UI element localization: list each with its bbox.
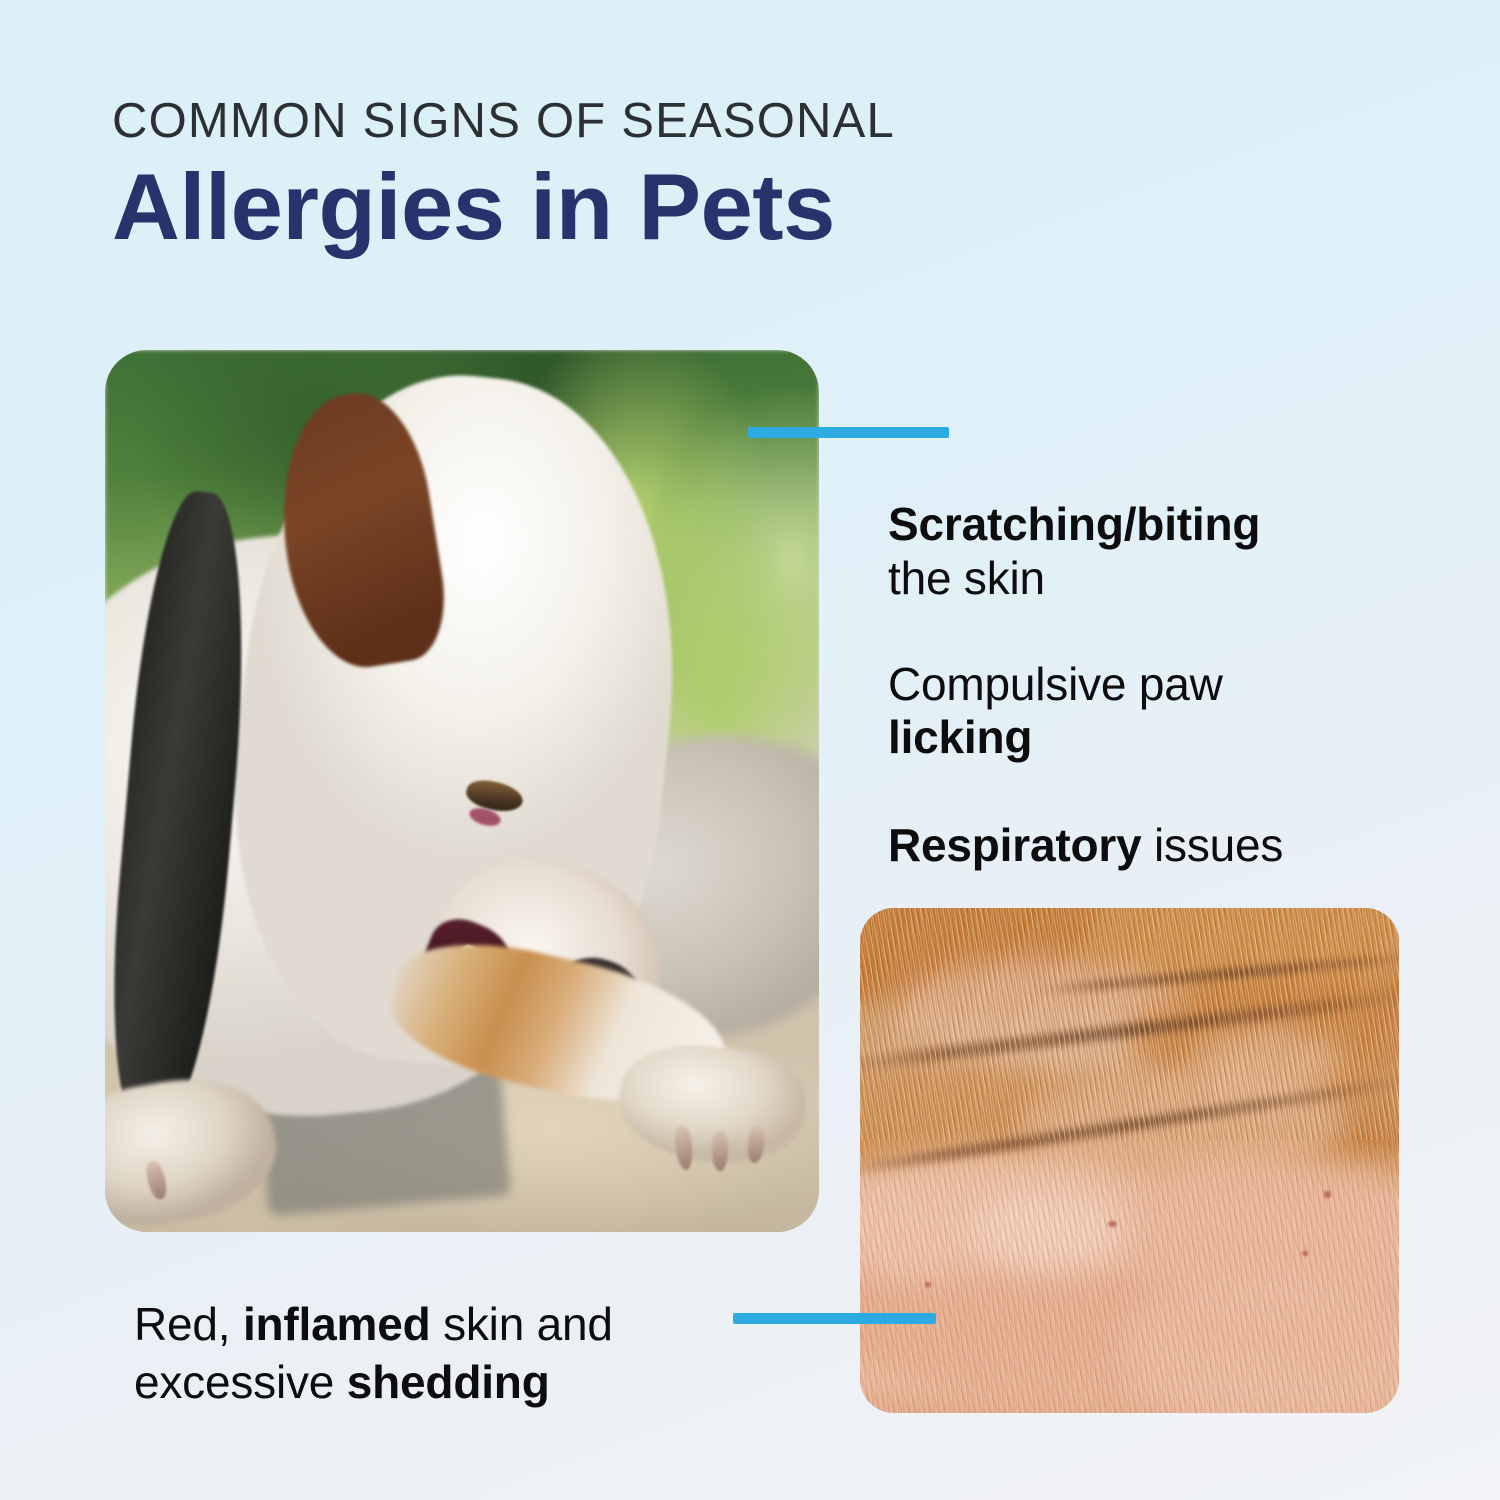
connector-line-bottom — [733, 1313, 936, 1324]
symptom-detail: issues — [1141, 819, 1283, 871]
page-title: Allergies in Pets — [112, 159, 1292, 255]
symptom-keyword: Respiratory — [888, 819, 1141, 871]
symptom-compulsive-paw-licking: Compulsive paw licking — [888, 658, 1388, 766]
symptom-keyword: licking — [888, 711, 1032, 763]
skin-speck — [1108, 1221, 1117, 1227]
symptom-detail: Compulsive paw — [888, 658, 1223, 710]
caption-line1-post: skin and — [431, 1298, 613, 1350]
infographic-canvas: COMMON SIGNS OF SEASONAL Allergies in Pe… — [0, 0, 1500, 1500]
symptom-list: Scratching/biting the skin Compulsive pa… — [888, 498, 1388, 873]
symptom-detail: the skin — [888, 552, 1045, 604]
symptom-keyword: Scratching/biting — [888, 498, 1260, 550]
caption-keyword-inflamed: inflamed — [243, 1298, 431, 1350]
fur-texture-dense — [860, 908, 1399, 1140]
skin-speck — [1324, 1191, 1332, 1198]
dog-photo-illustration — [105, 350, 819, 1232]
skin-photo-illustration — [860, 908, 1399, 1413]
inflamed-skin-photo — [860, 908, 1399, 1413]
dog-photo — [105, 350, 819, 1232]
skin-caption: Red, inflamed skin and excessive sheddin… — [134, 1296, 754, 1411]
dog-nail — [712, 1131, 728, 1172]
symptom-scratching-biting: Scratching/biting the skin — [888, 498, 1388, 606]
connector-line-top — [748, 427, 949, 438]
caption-keyword-shedding: shedding — [347, 1356, 550, 1408]
skin-speck — [925, 1282, 931, 1287]
symptom-respiratory-issues: Respiratory issues — [888, 819, 1388, 873]
caption-line1-pre: Red, — [134, 1298, 243, 1350]
header-block: COMMON SIGNS OF SEASONAL Allergies in Pe… — [112, 96, 1292, 255]
eyebrow-text: COMMON SIGNS OF SEASONAL — [112, 96, 1292, 147]
caption-line2-pre: excessive — [134, 1356, 347, 1408]
